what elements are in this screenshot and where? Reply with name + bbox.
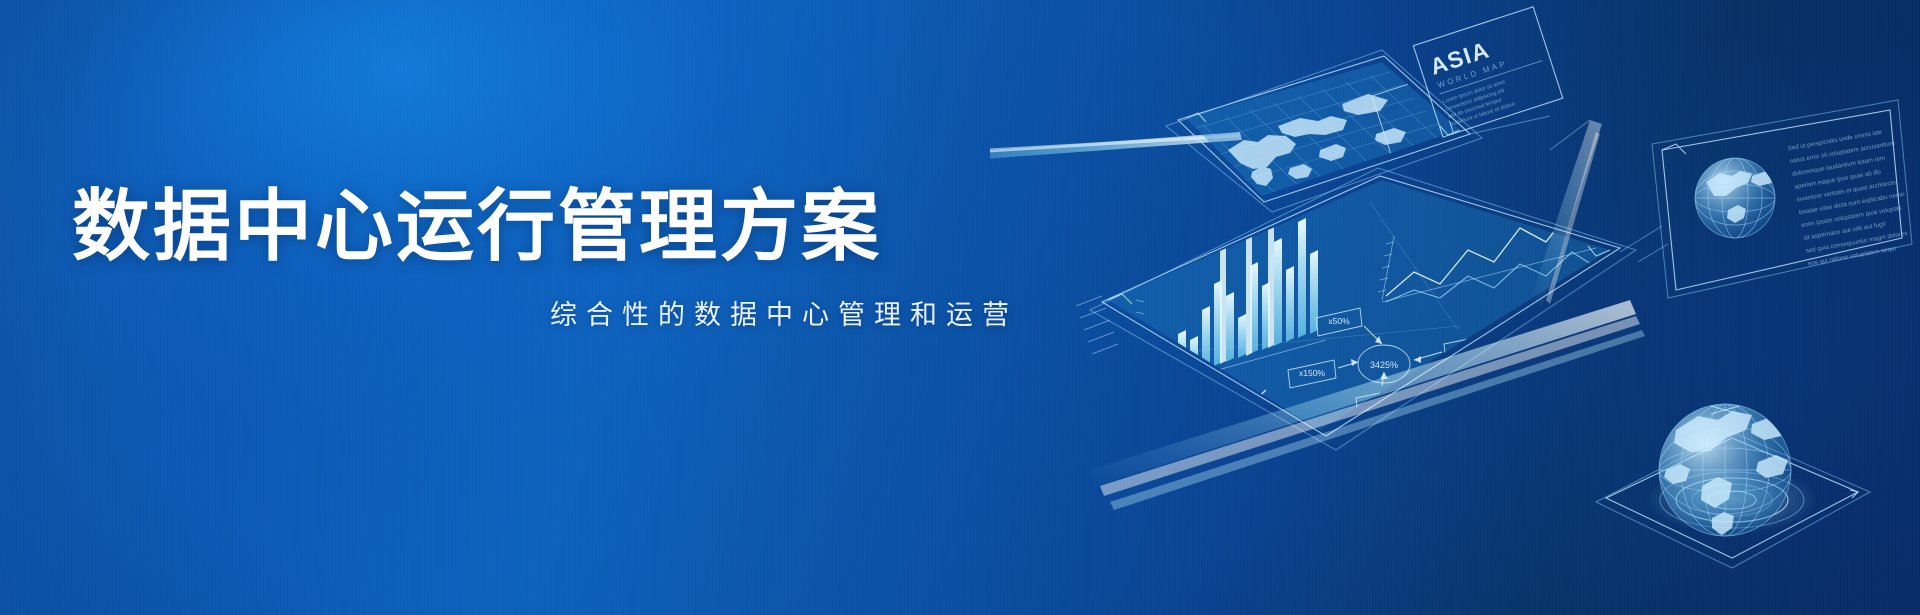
callout-value-x150: x150%: [1299, 368, 1325, 378]
text-panel-body: Sed ut perspiciatis unde omnis iste natu…: [1787, 127, 1914, 268]
page-title: 数据中心运行管理方案: [72, 186, 1032, 267]
text-info-panel: Sed ut perspiciatis unde omnis iste natu…: [1652, 100, 1915, 298]
light-beam-horizontal: [990, 132, 1242, 168]
panel-edge-ticks: [1076, 296, 1118, 354]
tech-hud-illustration: ASIA WORLD MAP Lorem ipsum dolor sit ame…: [990, 0, 1920, 615]
globe-large: [1659, 404, 1792, 536]
callout-value-x50: x50%: [1328, 316, 1350, 326]
globe-small: [1695, 158, 1776, 238]
asia-body-lines: Lorem ipsum dolor sit amet consectetur a…: [1442, 78, 1516, 127]
callout-value-main: 3425%: [1370, 360, 1398, 370]
hero-text-block: 数据中心运行管理方案 综合性的数据中心管理和运营: [72, 186, 1032, 332]
page-subtitle: 综合性的数据中心管理和运营: [72, 293, 1032, 332]
hero-banner: ASIA WORLD MAP Lorem ipsum dolor sit ame…: [0, 0, 1920, 615]
